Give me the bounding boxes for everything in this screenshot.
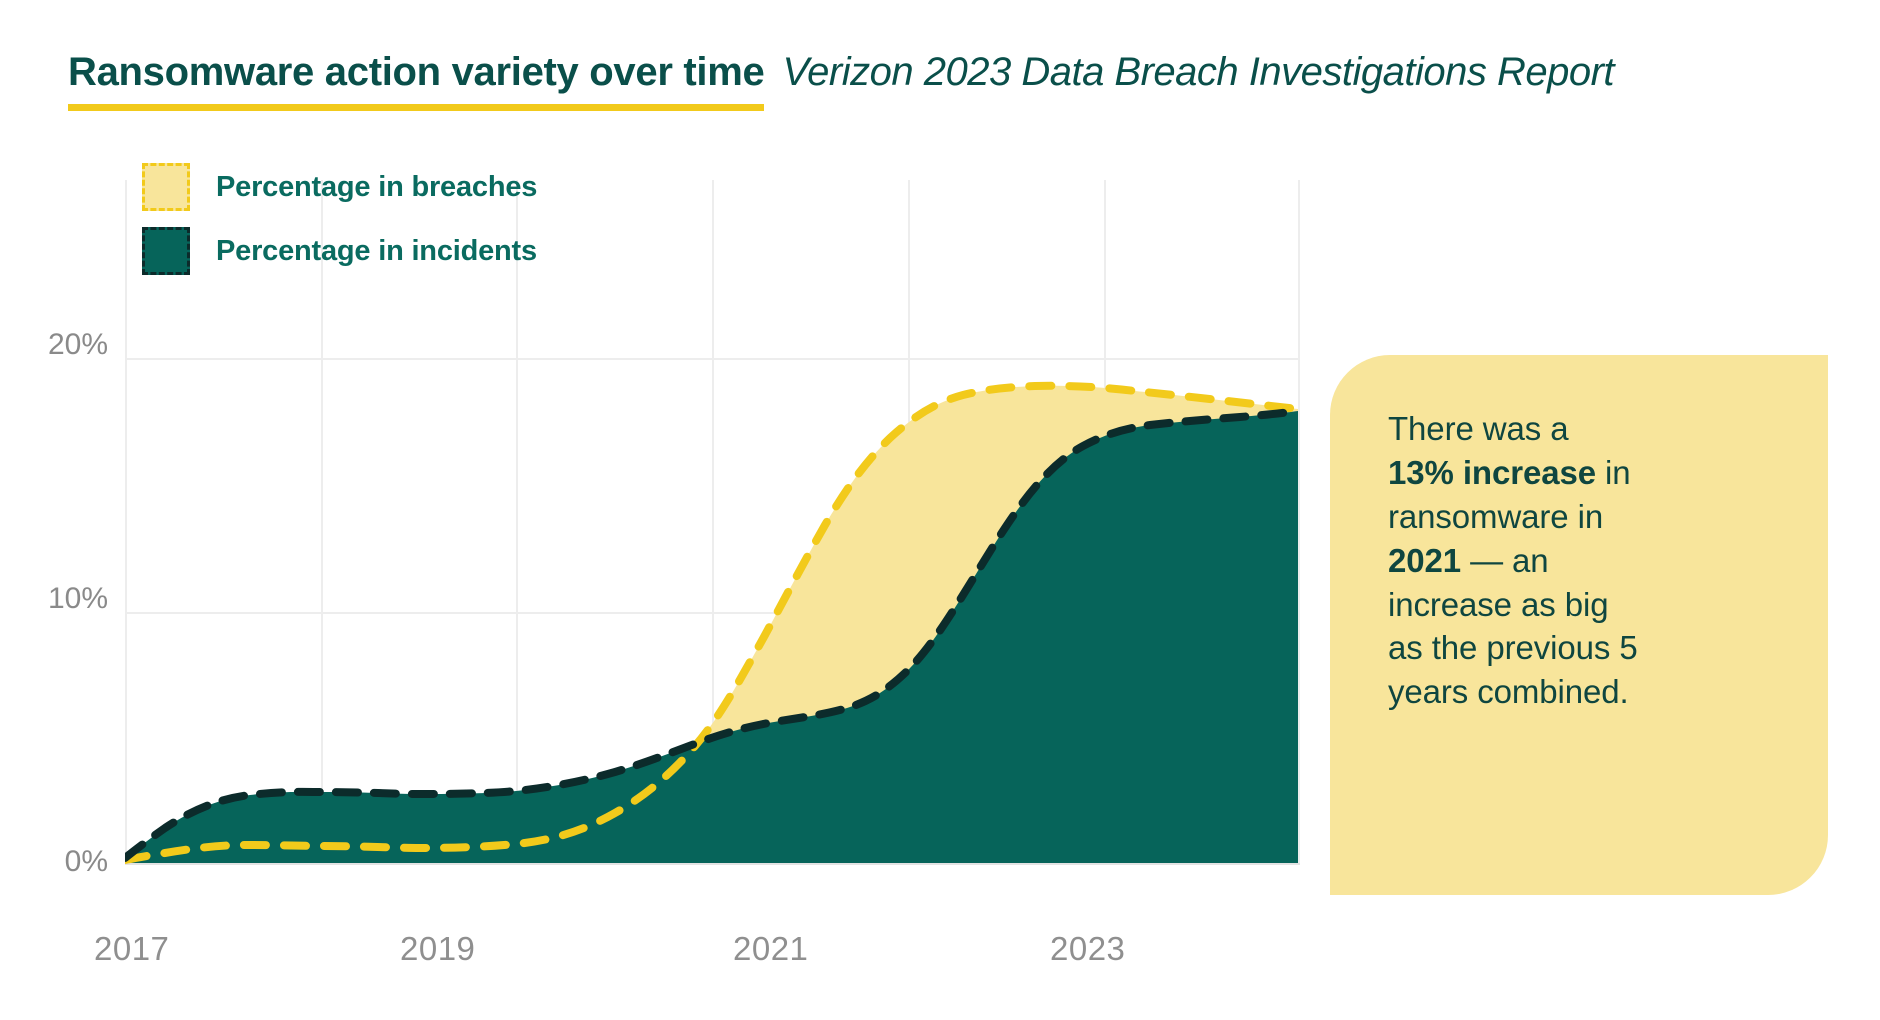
legend-swatch-incidents-icon <box>142 227 190 275</box>
callout-mid-2: — an <box>1461 542 1549 579</box>
y-tick-10: 10% <box>8 582 108 616</box>
legend-item-incidents[interactable]: Percentage in incidents <box>142 227 537 275</box>
legend-label-incidents: Percentage in incidents <box>216 235 537 268</box>
legend-item-breaches[interactable]: Percentage in breaches <box>142 163 537 211</box>
x-tick-2021: 2021 <box>733 930 808 968</box>
x-tick-2019: 2019 <box>400 930 475 968</box>
callout-line-2: ransomware in <box>1388 498 1603 535</box>
legend-swatch-breaches-icon <box>142 163 190 211</box>
callout-line-1: There was a <box>1388 410 1568 447</box>
callout-line-3: increase as big <box>1388 586 1608 623</box>
callout-line-4: as the previous 5 <box>1388 629 1638 666</box>
x-tick-2017: 2017 <box>94 930 169 968</box>
callout-mid-1: in <box>1596 454 1631 491</box>
chart-legend: Percentage in breaches Percentage in inc… <box>142 163 537 291</box>
y-tick-20: 20% <box>8 328 108 362</box>
x-tick-2023: 2023 <box>1050 930 1125 968</box>
callout-bold-2021: 2021 <box>1388 542 1461 579</box>
chart-canvas: Ransomware action variety over timeVeriz… <box>0 0 1880 1020</box>
callout-line-5: years combined. <box>1388 673 1629 710</box>
callout-bold-13-percent: 13% increase <box>1388 454 1596 491</box>
callout-box: There was a 13% increase in ransomware i… <box>1330 355 1828 895</box>
y-tick-0: 0% <box>8 845 108 879</box>
callout-text: There was a 13% increase in ransomware i… <box>1388 407 1770 714</box>
legend-label-breaches: Percentage in breaches <box>216 171 537 204</box>
